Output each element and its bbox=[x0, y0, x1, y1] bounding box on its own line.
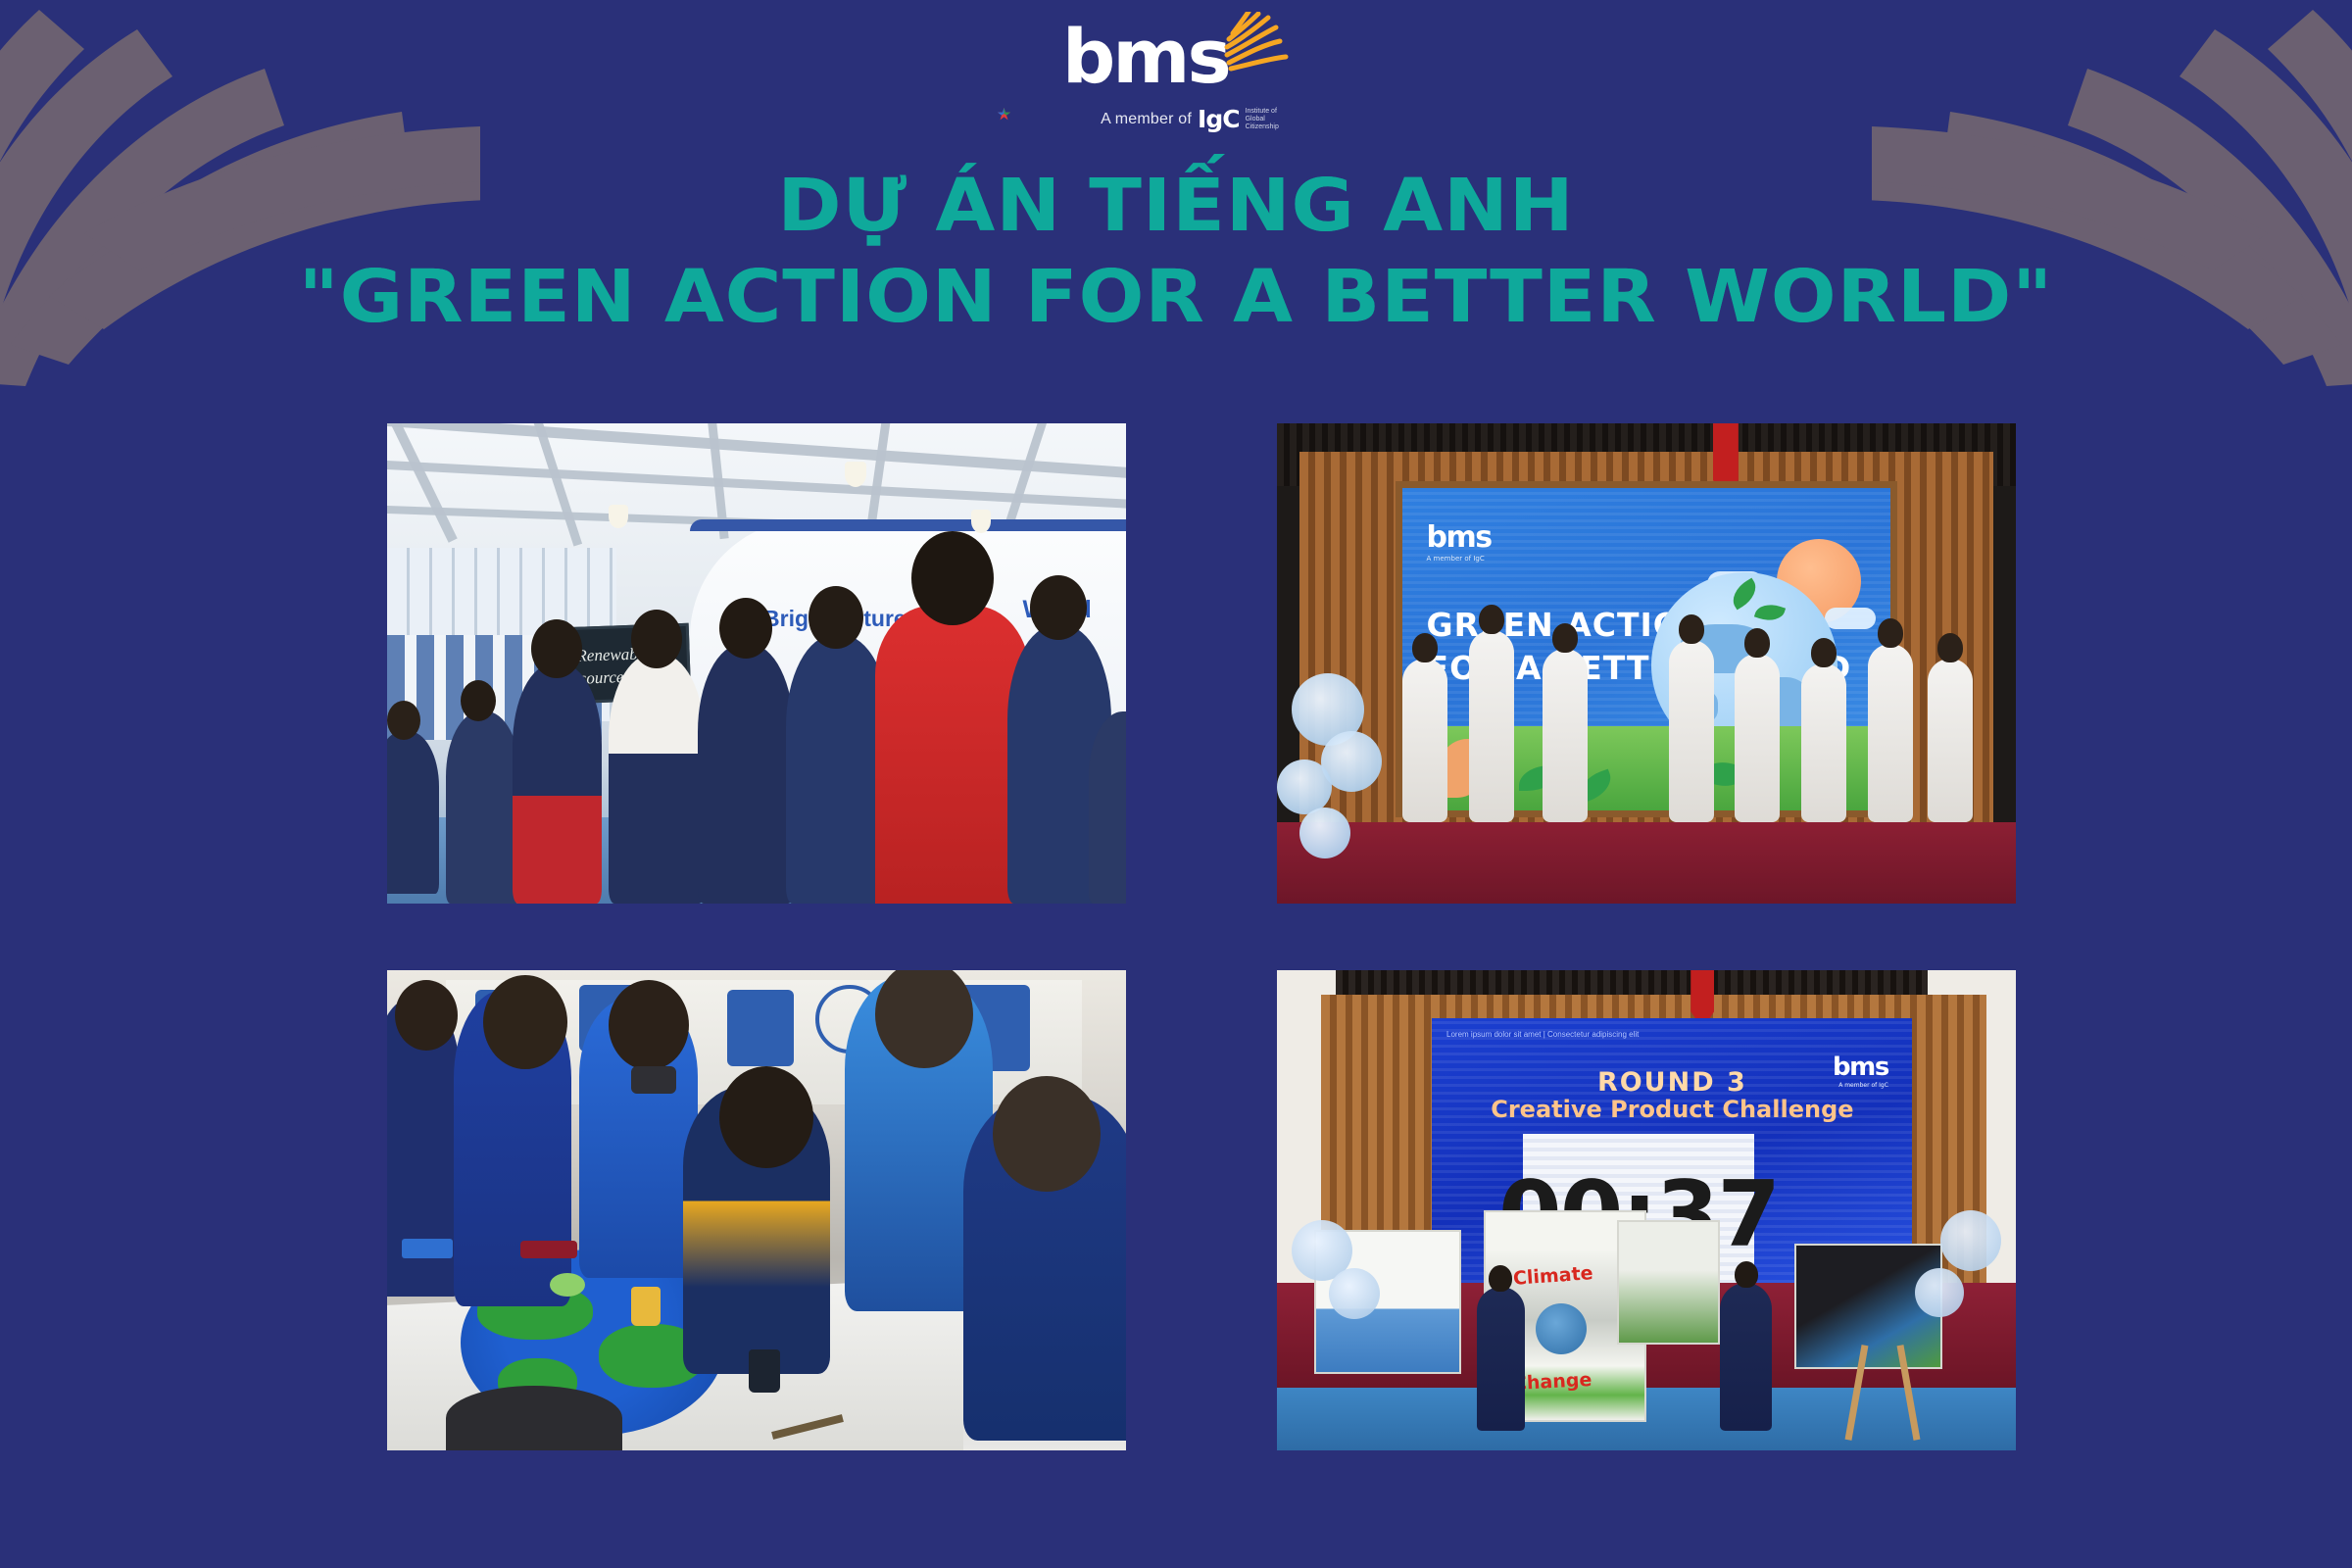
screen-bms-sub: A member of IgC bbox=[1833, 1082, 1888, 1089]
photo-grid: A Bright Future in World Renewable sourc… bbox=[387, 423, 2016, 1501]
dancer-figure bbox=[1669, 640, 1714, 822]
screen-bms-logo: bms A member of IgC bbox=[1427, 520, 1492, 563]
paper-flower-decor bbox=[1940, 1210, 2001, 1271]
photo-assembly-hall: A Bright Future in World Renewable sourc… bbox=[387, 423, 1126, 904]
screen-bms-wordmark: bms bbox=[1833, 1053, 1888, 1082]
title-line-2: "GREEN ACTION FOR A BETTER WORLD" bbox=[0, 255, 2352, 339]
dancer-figure bbox=[1735, 654, 1780, 822]
dancer-figure bbox=[1868, 644, 1913, 821]
bms-logo-block: bms A member of IgC bbox=[970, 12, 1382, 133]
paper-flower-decor bbox=[1329, 1268, 1380, 1319]
presenter-figure bbox=[1477, 1287, 1526, 1431]
photo-stage-performance: bms A member of IgC GREEN ACTION FOR A B… bbox=[1277, 423, 2016, 904]
screen-challenge-subtitle: Creative Product Challenge bbox=[1491, 1096, 1853, 1123]
screen-tiny-text: Lorem ipsum dolor sit amet | Consectetur… bbox=[1446, 1030, 1639, 1039]
photo-round-3-challenge: Lorem ipsum dolor sit amet | Consectetur… bbox=[1277, 970, 2016, 1450]
screen-round-label: ROUND 3 bbox=[1597, 1067, 1747, 1098]
photo-painting-earth bbox=[387, 970, 1126, 1450]
bms-wordmark: bms bbox=[1062, 22, 1229, 92]
member-of-label: A member of bbox=[1101, 111, 1192, 128]
presenter-figure bbox=[1720, 1283, 1772, 1432]
paper-flower-decor bbox=[1277, 759, 1332, 814]
screen-bms-logo: bms A member of IgC bbox=[1833, 1053, 1888, 1089]
dancer-figure bbox=[1543, 649, 1588, 821]
dancer-figure bbox=[1402, 659, 1447, 822]
dancer-figure bbox=[1469, 630, 1514, 822]
bms-logo-row: bms bbox=[1062, 12, 1290, 103]
title-line-1: DỰ ÁN TIẾNG ANH bbox=[0, 165, 2352, 247]
screen-bms-wordmark: bms bbox=[1427, 520, 1492, 555]
dancer-figure bbox=[1928, 659, 1973, 822]
paper-flower-decor bbox=[1299, 808, 1350, 858]
dancer-figure bbox=[1801, 663, 1846, 822]
poster-canvas: bms A member of IgC bbox=[0, 0, 2352, 1568]
student-artwork-poster bbox=[1617, 1220, 1721, 1345]
poster-title: DỰ ÁN TIẾNG ANH "GREEN ACTION FOR A BETT… bbox=[0, 165, 2352, 339]
sunburst-icon bbox=[1219, 12, 1290, 77]
igc-member-row: A member of IgC Institute of Global Citi… bbox=[984, 105, 1396, 133]
screen-bms-sub: A member of IgC bbox=[1427, 555, 1492, 563]
igc-tagline-line2: Global bbox=[1246, 116, 1265, 122]
igc-star-icon bbox=[998, 108, 1010, 121]
paper-flower-decor bbox=[1915, 1268, 1964, 1317]
igc-tagline-line3: Citizenship bbox=[1246, 123, 1279, 130]
igc-tagline-line1: Institute of bbox=[1246, 108, 1277, 115]
igc-wordmark: IgC bbox=[1198, 105, 1240, 133]
igc-tagline: Institute of Global Citizenship bbox=[1246, 108, 1279, 131]
